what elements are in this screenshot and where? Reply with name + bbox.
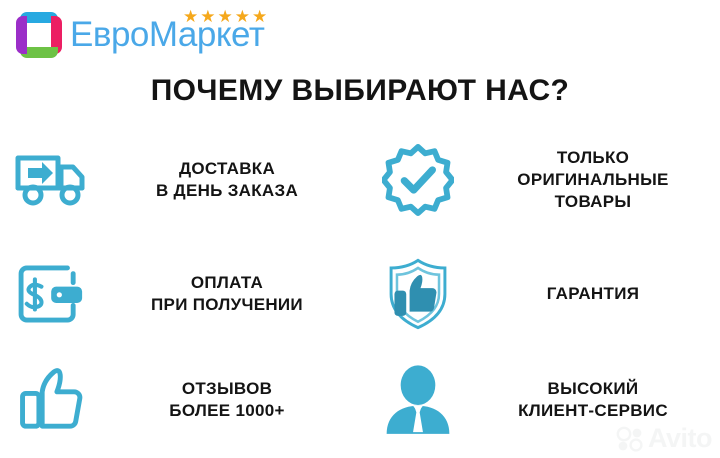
- wallet-cash-icon: [6, 248, 98, 340]
- square-frame-logo-icon: [16, 12, 62, 58]
- feature-grid: ДОСТАВКА В ДЕНЬ ЗАКАЗА ТОЛЬКО ОРИГИНАЛЬН…: [0, 126, 720, 446]
- feature-item-warranty: ГАРАНТИЯ: [372, 242, 720, 346]
- avito-watermark: Avito: [615, 425, 712, 452]
- feature-label: ОПЛАТА ПРИ ПОЛУЧЕНИИ: [98, 272, 356, 316]
- avito-dots-icon: [615, 426, 645, 452]
- feature-item-payment-on-delivery: ОПЛАТА ПРИ ПОЛУЧЕНИИ: [6, 242, 356, 346]
- feature-label: ГАРАНТИЯ: [464, 283, 720, 305]
- feature-label: ОТЗЫВОВ БОЛЕЕ 1000+: [98, 378, 356, 422]
- brand-name: ЕвроМаркет: [70, 14, 264, 56]
- thumbs-up-icon: [6, 354, 98, 446]
- avito-watermark-text: Avito: [648, 425, 712, 452]
- brand-header: ★★★★★ ЕвроМаркет: [8, 6, 408, 64]
- logo-segment-left: [16, 16, 27, 54]
- feature-item-reviews: ОТЗЫВОВ БОЛЕЕ 1000+: [6, 348, 356, 452]
- person-tie-icon: [372, 354, 464, 446]
- verified-badge-check-icon: [372, 134, 464, 226]
- shield-thumbs-up-icon: [372, 248, 464, 340]
- feature-label: ВЫСОКИЙ КЛИЕНТ-СЕРВИС: [464, 378, 720, 422]
- feature-label: ДОСТАВКА В ДЕНЬ ЗАКАЗА: [98, 158, 356, 202]
- feature-item-delivery: ДОСТАВКА В ДЕНЬ ЗАКАЗА: [6, 128, 356, 232]
- page-title: ПОЧЕМУ ВЫБИРАЮТ НАС?: [0, 74, 720, 108]
- feature-label: ТОЛЬКО ОРИГИНАЛЬНЫЕ ТОВАРЫ: [464, 147, 720, 213]
- promo-banner: ★★★★★ ЕвроМаркет ПОЧЕМУ ВЫБИРАЮТ НАС?: [0, 0, 720, 458]
- logo-center: [27, 23, 51, 47]
- feature-item-original-goods: ТОЛЬКО ОРИГИНАЛЬНЫЕ ТОВАРЫ: [372, 128, 720, 232]
- delivery-truck-icon: [6, 134, 98, 226]
